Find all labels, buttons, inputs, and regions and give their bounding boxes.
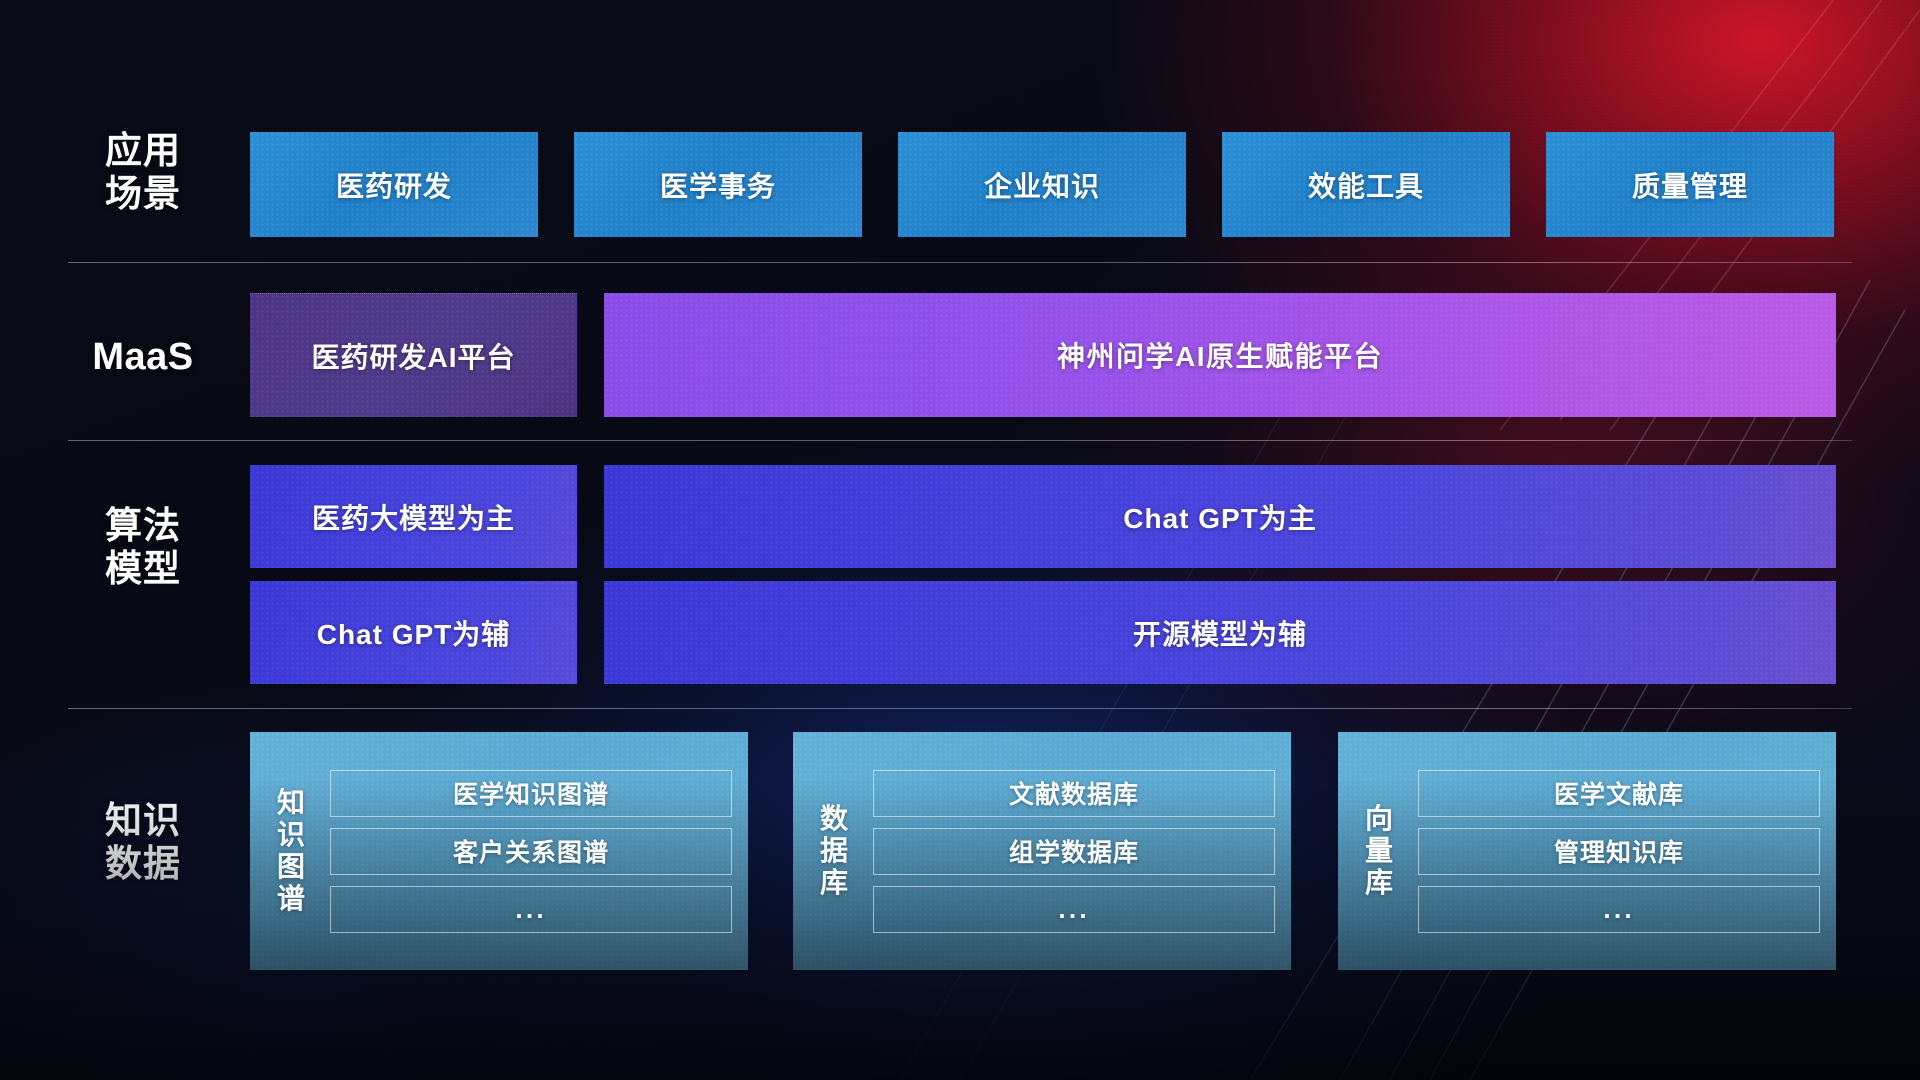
scenario-box-3[interactable]: 企业知识 — [898, 132, 1186, 237]
scenario-box-5-label: 质量管理 — [1632, 165, 1748, 205]
algo-box-opensource-secondary-label: 开源模型为辅 — [1133, 613, 1307, 653]
scenario-box-5[interactable]: 质量管理 — [1546, 132, 1834, 237]
scenario-box-1[interactable]: 医药研发 — [250, 132, 538, 237]
row-label-application-scenarios: 应用 场景 — [78, 130, 208, 216]
scenario-box-2-label: 医学事务 — [660, 165, 776, 205]
row-label-knowledge-line-2: 数据 — [78, 843, 208, 886]
scenario-box-3-label: 企业知识 — [984, 165, 1100, 205]
row-label-line-1: 应用 — [78, 130, 208, 173]
divider-after-maas — [68, 440, 1852, 441]
knowledge-panel-database-items: 文献数据库 组学数据库 ... — [873, 770, 1275, 933]
diagram-canvas: 应用 场景 医药研发 医学事务 企业知识 效能工具 质量管理 MaaS 医药研发… — [0, 0, 1920, 1080]
knowledge-item[interactable]: 文献数据库 — [873, 770, 1275, 817]
knowledge-panel-database[interactable]: 数据库 文献数据库 组学数据库 ... — [793, 732, 1291, 970]
knowledge-panel-vector-store-label: 向量库 — [1352, 803, 1406, 900]
scenario-box-4-label: 效能工具 — [1308, 165, 1424, 205]
row-label-line-2: 场景 — [78, 173, 208, 216]
knowledge-panel-knowledge-graph[interactable]: 知识图谱 医学知识图谱 客户关系图谱 ... — [250, 732, 748, 970]
algo-box-chatgpt-primary-label: Chat GPT为主 — [1123, 497, 1317, 537]
divider-after-application-scenarios — [68, 262, 1852, 263]
algo-box-chatgpt-secondary[interactable]: Chat GPT为辅 — [250, 581, 577, 684]
knowledge-item-more[interactable]: ... — [873, 886, 1275, 933]
knowledge-panel-vector-store-items: 医学文献库 管理知识库 ... — [1418, 770, 1820, 933]
maas-box-medical-rd-platform[interactable]: 医药研发AI平台 — [250, 293, 577, 417]
knowledge-panel-database-label: 数据库 — [807, 803, 861, 900]
row-label-algorithm-line-1: 算法 — [78, 505, 208, 548]
knowledge-item[interactable]: 组学数据库 — [873, 828, 1275, 875]
algo-box-chatgpt-primary[interactable]: Chat GPT为主 — [604, 465, 1836, 568]
maas-box-shenzhou-platform[interactable]: 神州问学AI原生赋能平台 — [604, 293, 1836, 417]
algo-box-opensource-secondary[interactable]: 开源模型为辅 — [604, 581, 1836, 684]
knowledge-item[interactable]: 管理知识库 — [1418, 828, 1820, 875]
row-label-knowledge-line-1: 知识 — [78, 800, 208, 843]
knowledge-item-more[interactable]: ... — [330, 886, 732, 933]
knowledge-item[interactable]: 医学文献库 — [1418, 770, 1820, 817]
row-label-maas: MaaS — [63, 335, 223, 379]
knowledge-panel-vector-store[interactable]: 向量库 医学文献库 管理知识库 ... — [1338, 732, 1836, 970]
scenario-box-4[interactable]: 效能工具 — [1222, 132, 1510, 237]
algo-box-medical-llm-primary[interactable]: 医药大模型为主 — [250, 465, 577, 568]
knowledge-panel-knowledge-graph-items: 医学知识图谱 客户关系图谱 ... — [330, 770, 732, 933]
maas-box-shenzhou-platform-label: 神州问学AI原生赋能平台 — [1057, 335, 1383, 375]
knowledge-item[interactable]: 客户关系图谱 — [330, 828, 732, 875]
maas-box-medical-rd-platform-label: 医药研发AI平台 — [311, 336, 515, 376]
scenario-box-1-label: 医药研发 — [336, 165, 452, 205]
knowledge-item-more[interactable]: ... — [1418, 886, 1820, 933]
row-label-algorithm-model: 算法 模型 — [78, 505, 208, 591]
row-label-knowledge-data: 知识 数据 — [78, 800, 208, 886]
algo-box-chatgpt-secondary-label: Chat GPT为辅 — [317, 613, 511, 653]
knowledge-panel-knowledge-graph-label: 知识图谱 — [264, 787, 318, 916]
row-label-maas-text: MaaS — [63, 335, 223, 379]
algo-box-medical-llm-primary-label: 医药大模型为主 — [312, 497, 515, 537]
knowledge-item[interactable]: 医学知识图谱 — [330, 770, 732, 817]
scenario-box-2[interactable]: 医学事务 — [574, 132, 862, 237]
divider-after-algorithm-model — [68, 708, 1852, 709]
row-label-algorithm-line-2: 模型 — [78, 548, 208, 591]
